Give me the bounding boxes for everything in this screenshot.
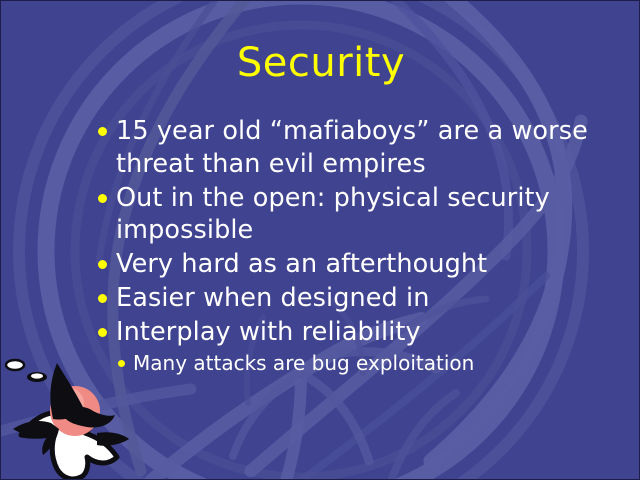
list-item: Out in the open: physical security impos…: [93, 182, 613, 248]
bullet-dot-icon: [98, 328, 107, 337]
list-item: Interplay with reliability: [93, 316, 613, 349]
list-item: Very hard as an afterthought: [93, 248, 613, 281]
bullet-dot-icon: [98, 260, 107, 269]
bullet-dot-icon: [98, 127, 107, 136]
presentation-slide: Security 15 year old “mafiaboys” are a w…: [0, 0, 640, 480]
list-item-label: Very hard as an afterthought: [116, 248, 613, 281]
list-item: Easier when designed in: [93, 282, 613, 315]
bullet-dot-icon: [98, 294, 107, 303]
sub-list-item-label: Many attacks are bug exploitation: [133, 351, 613, 377]
sub-list-item: Many attacks are bug exploitation: [114, 351, 613, 377]
java-duke-mascot-icon: [1, 353, 141, 480]
slide-title: Security: [1, 43, 640, 83]
mascot-bubbles-icon: [6, 360, 47, 382]
bullet-dot-icon: [98, 194, 107, 203]
list-item-label: Easier when designed in: [116, 282, 613, 315]
list-item-label: Interplay with reliability: [116, 316, 613, 349]
list-item-label: Out in the open: physical security impos…: [116, 182, 613, 248]
list-item: 15 year old “mafiaboys” are a worse thre…: [93, 115, 613, 181]
list-item-label: 15 year old “mafiaboys” are a worse thre…: [116, 115, 613, 181]
bullet-list: 15 year old “mafiaboys” are a worse thre…: [93, 115, 613, 378]
